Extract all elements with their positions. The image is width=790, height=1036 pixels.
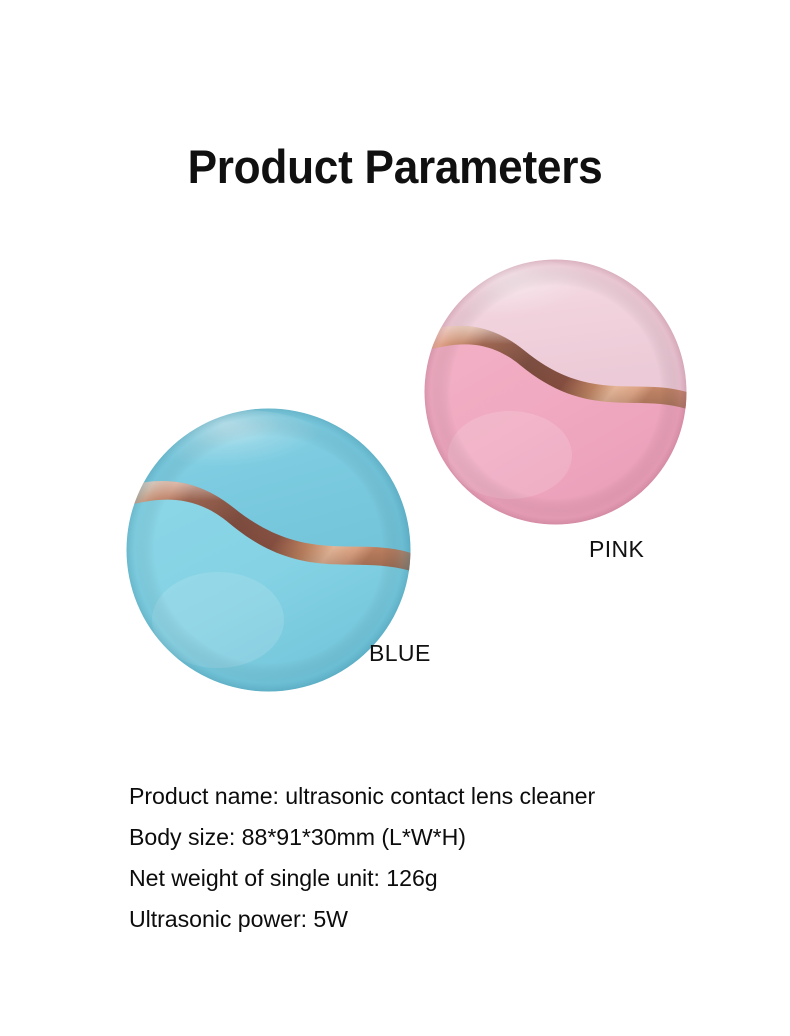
specification-list: Product name: ultrasonic contact lens cl… xyxy=(129,776,729,940)
spec-line-net-weight: Net weight of single unit: 126g xyxy=(129,858,720,899)
color-label-blue: BLUE xyxy=(369,640,431,667)
spec-line-ultrasonic-power: Ultrasonic power: 5W xyxy=(129,899,720,940)
spec-line-product-name: Product name: ultrasonic contact lens cl… xyxy=(129,776,720,817)
color-label-pink: PINK xyxy=(589,536,644,563)
device-pink-illustration xyxy=(424,259,687,525)
product-image-group: PINK BLUE xyxy=(0,0,790,730)
product-device-pink xyxy=(424,259,687,525)
spec-line-body-size: Body size: 88*91*30mm (L*W*H) xyxy=(129,817,720,858)
